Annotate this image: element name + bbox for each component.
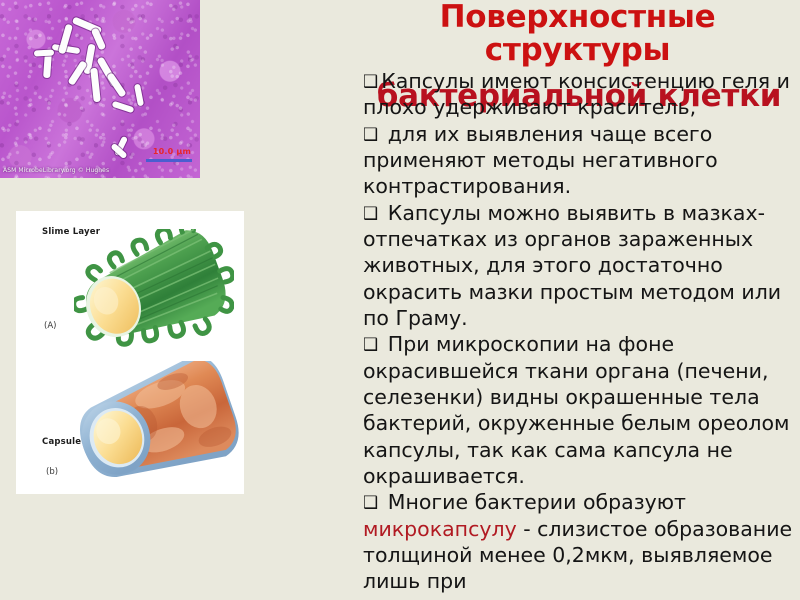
slime-layer-cell [74, 229, 234, 361]
diagram-marker-b: (b) [46, 467, 58, 477]
bullet-paragraph-5: ❑ Многие бактерии образуют микрокапсулу … [363, 489, 800, 594]
diagram-marker-a: (A) [44, 321, 56, 331]
bullet-paragraph-3: ❑ Капсулы можно выявить в мазках-отпечат… [363, 200, 800, 332]
bullet-square-icon: ❑ [363, 72, 378, 92]
scale-bar-label: 10.0 µm [153, 147, 191, 156]
bullet-text-1: Капсулы имеют консистенцию геля и плохо … [363, 69, 790, 119]
bullet-paragraph-4: ❑ При микроскопии на фоне окрасившейся т… [363, 331, 800, 489]
title-line-1: Поверхностные [355, 2, 800, 34]
slime-layer-illustration [74, 229, 234, 361]
bacterial-rod [34, 49, 54, 56]
bullet-square-icon: ❑ [363, 493, 378, 513]
bullet-text-2: для их выявления чаще всего применяют ме… [363, 122, 718, 199]
bullet-square-icon: ❑ [363, 335, 378, 355]
bullet-text-3: Капсулы можно выявить в мазках-отпечатка… [363, 201, 781, 330]
micrograph-credit: ASM MicrobeLibrary.org © Hughes [3, 167, 109, 174]
body-text-block: ❑Капсулы имеют консистенцию геля и плохо… [363, 68, 800, 595]
micrograph-image: 10.0 µm ASM MicrobeLibrary.org © Hughes [0, 0, 200, 178]
slide-canvas: Поверхностные структуры бактериальной кл… [0, 0, 800, 600]
bullet-paragraph-2: ❑ для их выявления чаще всего применяют … [363, 121, 800, 200]
title-line-2: структуры [355, 35, 800, 67]
capsule-illustration [74, 361, 240, 489]
bullet-square-icon: ❑ [363, 204, 378, 224]
bullet-paragraph-1: ❑Капсулы имеют консистенцию геля и плохо… [363, 68, 800, 121]
bullet-text-5-before: Многие бактерии образуют [388, 490, 686, 514]
slide-title: Поверхностные структуры [355, 2, 800, 66]
capsule-cell [74, 361, 240, 489]
bullet-square-icon: ❑ [363, 125, 378, 145]
scale-bar [146, 159, 192, 162]
capsule-slime-diagram: Slime Layer (A) Capsule (b) [16, 211, 244, 494]
highlighted-term-microcapsule: микрокапсулу [363, 517, 517, 541]
bullet-text-4: При микроскопии на фоне окрасившейся тка… [363, 332, 789, 488]
